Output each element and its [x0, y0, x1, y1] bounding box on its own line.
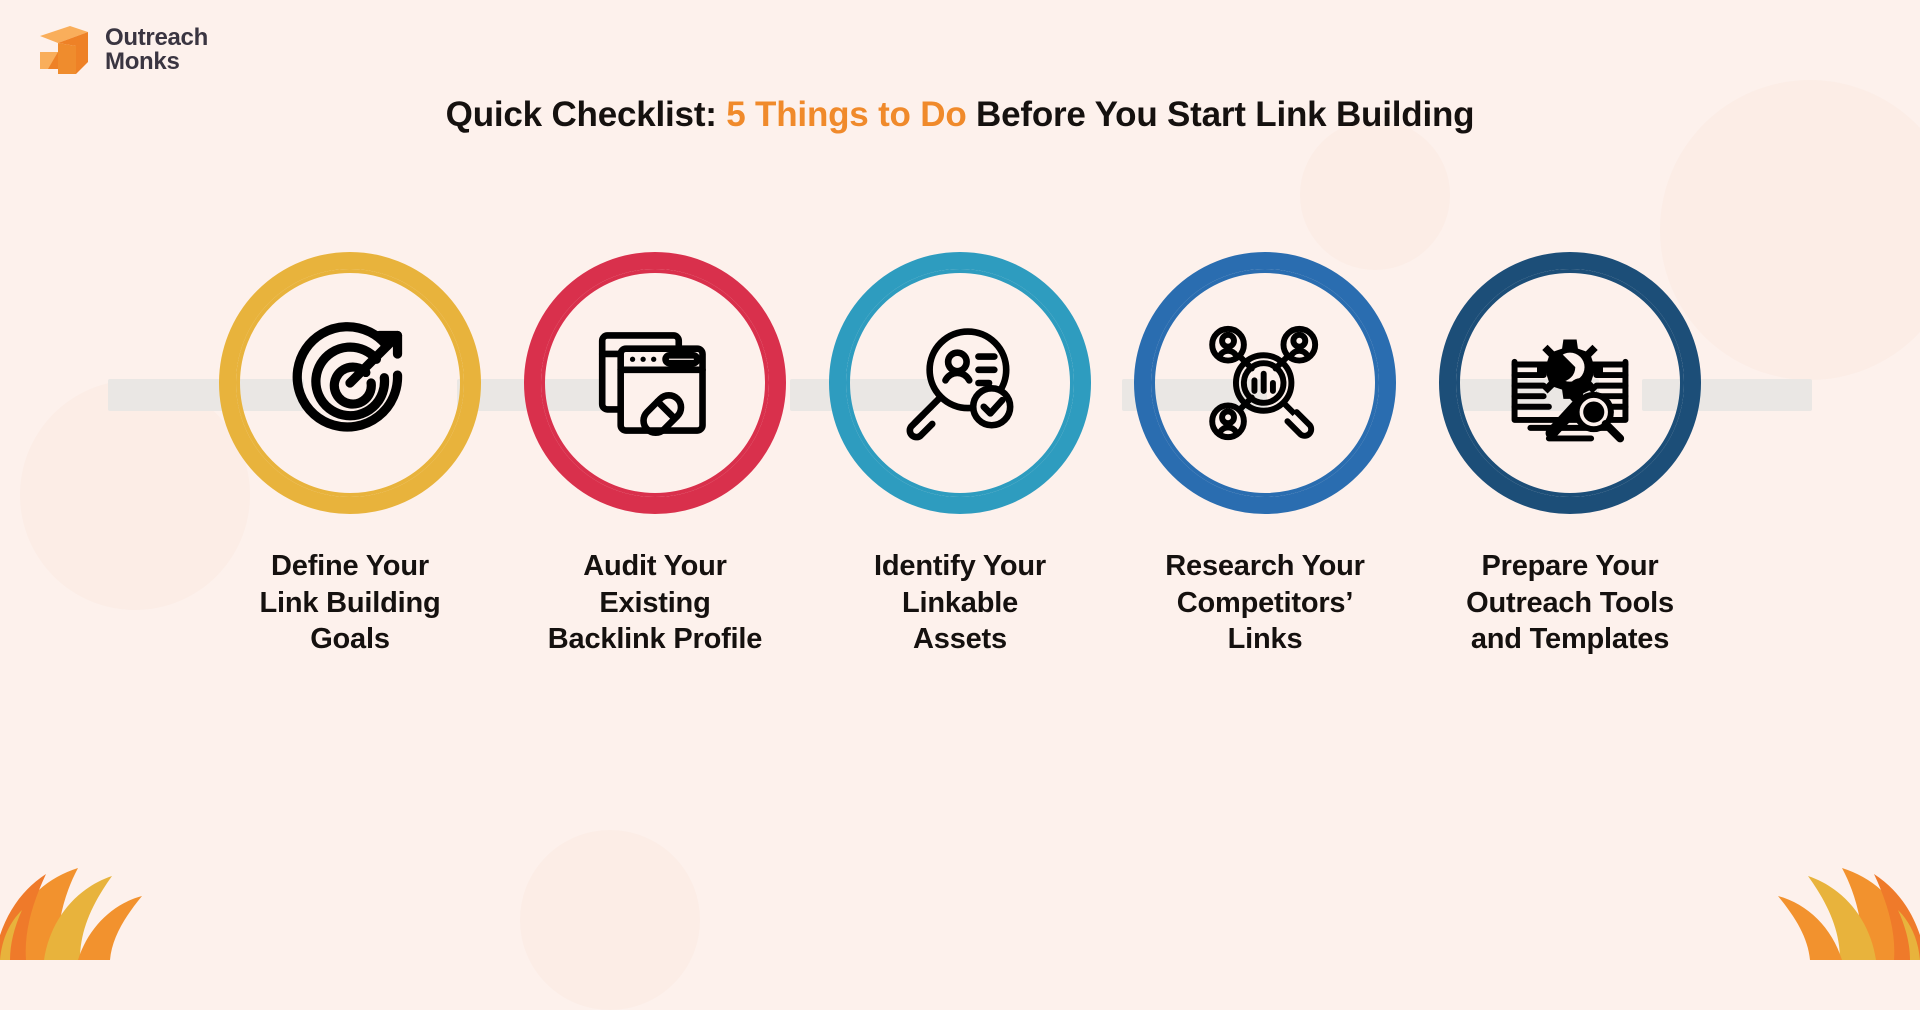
- bottom-right-leaf-cluster-icon: [1660, 770, 1920, 960]
- title-prefix: Quick Checklist:: [446, 95, 727, 134]
- checklist-step-1[interactable]: Define Your Link Building Goals: [219, 252, 481, 658]
- step-label: Define Your Link Building Goals: [259, 548, 440, 658]
- step-ring-outer: [829, 252, 1091, 514]
- background-blob: [520, 830, 700, 1010]
- step-ring-inner: [846, 269, 1074, 497]
- outreach-monks-cube-logo-icon: [36, 22, 92, 78]
- step-ring-outer: [219, 252, 481, 514]
- background-blob: [1300, 120, 1450, 270]
- brand-name-line-1: Outreach: [105, 26, 208, 50]
- step-ring-inner: [236, 269, 464, 497]
- step-ring-outer: [1134, 252, 1396, 514]
- step-ring-inner: [541, 269, 769, 497]
- step-label: Identify Your Linkable Assets: [874, 548, 1046, 658]
- checklist-steps: Define Your Link Building Goals Audit Yo…: [0, 252, 1920, 658]
- title-accent: 5 Things to Do: [726, 95, 966, 134]
- checklist-step-3[interactable]: Identify Your Linkable Assets: [829, 252, 1091, 658]
- step-label: Audit Your Existing Backlink Profile: [548, 548, 762, 658]
- brand-name-line-2: Monks: [105, 50, 208, 74]
- page-title: Quick Checklist: 5 Things to Do Before Y…: [0, 95, 1920, 135]
- step-label: Prepare Your Outreach Tools and Template…: [1466, 548, 1674, 658]
- checklist-step-2[interactable]: Audit Your Existing Backlink Profile: [524, 252, 786, 658]
- target-arrow-icon: [284, 317, 416, 449]
- brand-logo[interactable]: Outreach Monks: [36, 22, 208, 78]
- people-network-chart-magnifier-icon: [1199, 317, 1331, 449]
- bottom-left-leaf-cluster-icon: [0, 770, 260, 960]
- brand-wordmark: Outreach Monks: [105, 26, 208, 75]
- step-ring-inner: [1456, 269, 1684, 497]
- step-ring-inner: [1151, 269, 1379, 497]
- step-ring-outer: [1439, 252, 1701, 514]
- checklist-step-5[interactable]: Prepare Your Outreach Tools and Template…: [1439, 252, 1701, 658]
- checklist-step-4[interactable]: Research Your Competitors’ Links: [1134, 252, 1396, 658]
- gear-wrench-magnifier-icon: [1504, 317, 1636, 449]
- browser-chain-link-icon: [589, 317, 721, 449]
- step-label: Research Your Competitors’ Links: [1165, 548, 1364, 658]
- title-suffix: Before You Start Link Building: [967, 95, 1475, 134]
- magnifier-profile-check-icon: [894, 317, 1026, 449]
- step-ring-outer: [524, 252, 786, 514]
